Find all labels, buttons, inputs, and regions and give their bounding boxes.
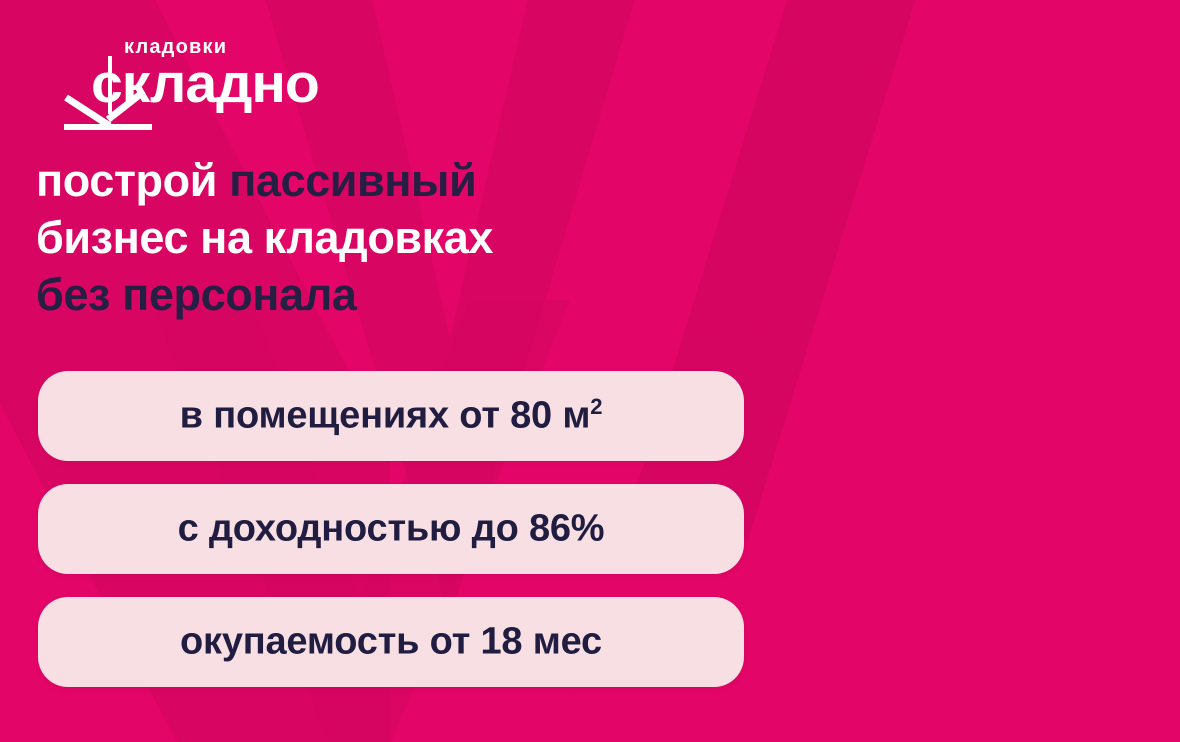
headline-line3: без персонала: [36, 269, 357, 320]
page-title: построй пассивный бизнес на кладовках бе…: [36, 152, 716, 323]
feature-pill-yield: с доходностью до 86%: [38, 484, 744, 574]
pill-2-label: окупаемость от 18 мес: [180, 621, 602, 663]
headline-line2: бизнес на кладовках: [36, 212, 493, 263]
feature-pill-payback: окупаемость от 18 мес: [38, 597, 744, 687]
feature-pill-area: в помещениях от 80 м2: [38, 371, 744, 461]
headline-line1-dark: пассивный: [229, 155, 476, 206]
pill-1-label: с доходностью до 86%: [178, 508, 605, 550]
feature-pill-area-text: в помещениях от 80 м2: [180, 394, 603, 438]
feature-pill-payback-text: окупаемость от 18 мес: [180, 620, 602, 664]
brand-logo[interactable]: кладовки складно: [38, 34, 368, 126]
logo-main-text: складно: [91, 56, 319, 111]
banner-content: кладовки складно построй пассивный бизне…: [0, 0, 1180, 742]
feature-pill-yield-text: с доходностью до 86%: [178, 507, 605, 551]
feature-pill-list: в помещениях от 80 м2 с доходностью до 8…: [38, 371, 744, 687]
pill-0-superscript: 2: [590, 394, 602, 419]
headline-line1-white: построй: [36, 155, 229, 206]
pill-0-label: в помещениях от 80 м: [180, 395, 591, 437]
promo-banner: 102 103 10 10: [0, 0, 1180, 742]
logo-underline: [64, 124, 152, 130]
